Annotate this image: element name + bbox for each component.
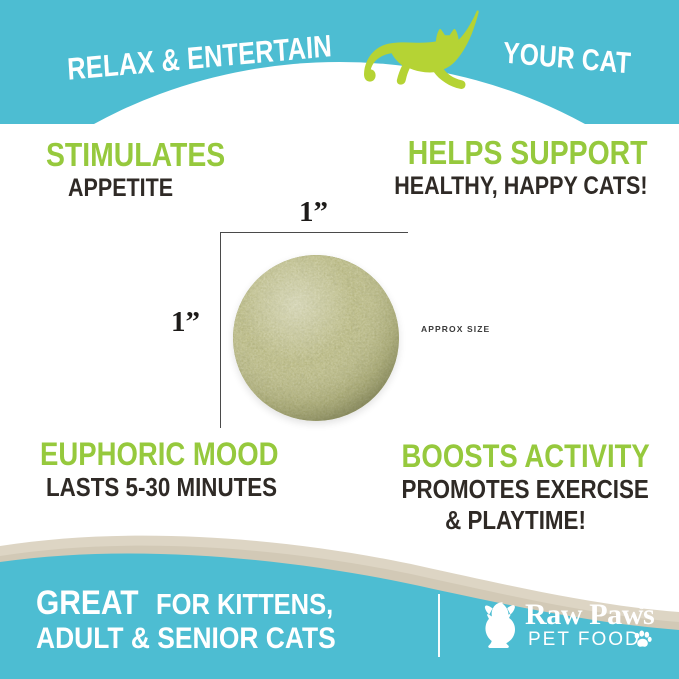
- dog-and-cat-silhouette-icon: [472, 599, 524, 651]
- dimension-line-horizontal: [220, 232, 408, 233]
- catnip-texture: [233, 255, 399, 421]
- raw-paws-logo: Raw Paws ® PET FOOD: [472, 597, 654, 655]
- dimension-label-width: 1”: [299, 196, 328, 229]
- footer-headline-line-2: Adult & Senior Cats: [36, 623, 336, 654]
- registered-trademark-icon: ®: [638, 601, 645, 612]
- header-text-left: Relax & Entertain: [66, 28, 332, 88]
- footer-headline-rest: For Kittens,: [156, 590, 333, 620]
- catnip-ball-image: [233, 255, 399, 421]
- dimension-line-vertical: [220, 232, 221, 428]
- dimension-label-height: 1”: [171, 306, 200, 339]
- footer-headline-line-1: GreatFor Kittens,: [36, 586, 377, 621]
- footer-headline: GreatFor Kittens, Adult & Senior Cats: [36, 586, 377, 655]
- footer-headline-emphasis: Great: [36, 586, 139, 621]
- header-text-right: Your Cat: [502, 37, 632, 82]
- footer-banner: GreatFor Kittens, Adult & Senior Cats Ra…: [0, 520, 679, 679]
- paw-print-icon: [633, 630, 652, 648]
- footer-content: GreatFor Kittens, Adult & Senior Cats Ra…: [0, 520, 679, 679]
- dimension-annotation-group: 1” 1” APPROX SIZE: [0, 110, 679, 540]
- catnip-ball-sphere: [233, 255, 399, 421]
- features-and-product: Stimulates Appetite Helps Support Health…: [0, 110, 679, 540]
- walking-cat-icon: [358, 8, 488, 90]
- logo-brand-name: Raw Paws: [525, 598, 654, 632]
- header-text-group: Relax & Entertain Your Cat: [0, 0, 679, 124]
- product-infographic: Relax & Entertain Your Cat Stimulates Ap…: [0, 0, 679, 679]
- logo-wordmark: Raw Paws ® PET FOOD: [525, 597, 655, 655]
- logo-tagline: PET FOOD: [528, 629, 641, 651]
- footer-vertical-divider: [438, 594, 440, 657]
- approx-size-label: APPROX SIZE: [421, 324, 490, 334]
